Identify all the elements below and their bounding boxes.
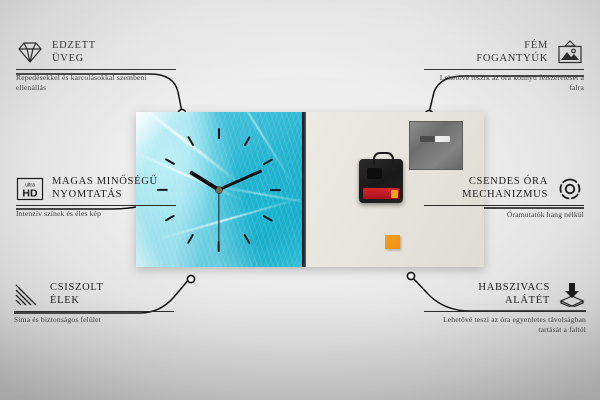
callout-title-line2: FOGANTYÚK: [476, 53, 548, 66]
hour-tick: [263, 214, 273, 221]
hanger-slot: [420, 136, 450, 142]
hour-tick: [218, 128, 220, 139]
hour-tick: [270, 189, 281, 191]
callout-tempered-glass: EDZETT ÜVEG Repedésekkel és karcolásokka…: [16, 40, 176, 93]
picture-hanger-icon: [556, 40, 584, 65]
callout-title-line2: ÜVEG: [52, 53, 96, 66]
gear-icon: [556, 176, 584, 202]
callout-silent-mechanism: CSENDES ÓRA MECHANIZMUS Óramutatók hang …: [424, 176, 584, 220]
polished-edge-icon: [14, 283, 42, 307]
callout-divider: [424, 205, 584, 206]
connector-dot-foam-pad: [407, 272, 414, 279]
callout-title-line2: NYOMTATÁS: [52, 189, 158, 202]
minute-hand: [218, 169, 262, 191]
callout-divider: [16, 69, 176, 70]
callout-divider: [424, 69, 584, 70]
clock-hub: [216, 187, 222, 193]
hour-tick: [187, 135, 194, 145]
hour-tick: [244, 135, 251, 145]
mechanism-shaft: [367, 168, 382, 179]
hour-tick: [263, 158, 273, 165]
callout-title-line1: CSENDES ÓRA: [462, 176, 548, 189]
callout-title-line2: ÉLEK: [50, 295, 104, 308]
callout-description: Lehetővé teszi az óra egyenletes távolsá…: [424, 315, 586, 335]
foam-pad-arrow-icon: [558, 282, 586, 307]
callout-title-line2: MECHANIZMUS: [462, 189, 548, 202]
callout-description: Sima és biztonságos felület: [14, 315, 174, 325]
callout-divider: [424, 311, 586, 312]
callout-title-line1: FÉM: [476, 40, 548, 53]
connector-dot-polished-edges: [187, 275, 194, 282]
callout-metal-handles: FÉM FOGANTYÚK Lehetővé teszik az óra kön…: [424, 40, 584, 93]
callout-divider: [16, 205, 176, 206]
callout-foam-pad: HABSZIVACS ALÁTÉT Lehetővé teszi az óra …: [424, 282, 586, 335]
metal-hanger-bracket: [409, 121, 463, 170]
mechanism-hook: [373, 152, 394, 165]
quartz-clock-mechanism: [359, 159, 403, 203]
callout-polished-edges: CSISZOLT ÉLEK Sima és biztonságos felüle…: [14, 282, 174, 325]
callout-divider: [14, 311, 174, 312]
callout-title-line2: ALÁTÉT: [478, 295, 550, 308]
callout-description: Óramutatók hang nélkül: [424, 210, 584, 220]
aa-battery: [363, 188, 399, 199]
hour-tick: [218, 241, 220, 252]
callout-title-line1: MAGAS MINŐSÉGŰ: [52, 176, 158, 189]
callout-title-line1: EDZETT: [52, 40, 96, 53]
hour-tick: [187, 233, 194, 243]
diamond-icon: [16, 40, 44, 65]
callout-description: Repedésekkel és karcolásokkal szembeni e…: [16, 73, 176, 93]
ultra-hd-icon: ultra HD: [16, 177, 44, 201]
hour-tick: [244, 233, 251, 243]
callout-title-line1: HABSZIVACS: [478, 282, 550, 295]
ultra-hd-main-text: HD: [22, 187, 38, 199]
product-infographic: EDZETT ÜVEG Repedésekkel és karcolásokka…: [0, 0, 600, 400]
battery-terminal: [391, 190, 398, 198]
hour-tick: [165, 158, 175, 165]
second-hand: [218, 190, 219, 242]
callout-title-line1: CSISZOLT: [50, 282, 104, 295]
callout-description: Intenzív színek és éles kép: [16, 209, 176, 219]
callout-high-quality-print: ultra HD MAGAS MINŐSÉGŰ NYOMTATÁS Intenz…: [16, 176, 176, 219]
orange-foam-pad: [385, 235, 400, 249]
callout-description: Lehetővé teszik az óra könnyű felszerelé…: [424, 73, 584, 93]
